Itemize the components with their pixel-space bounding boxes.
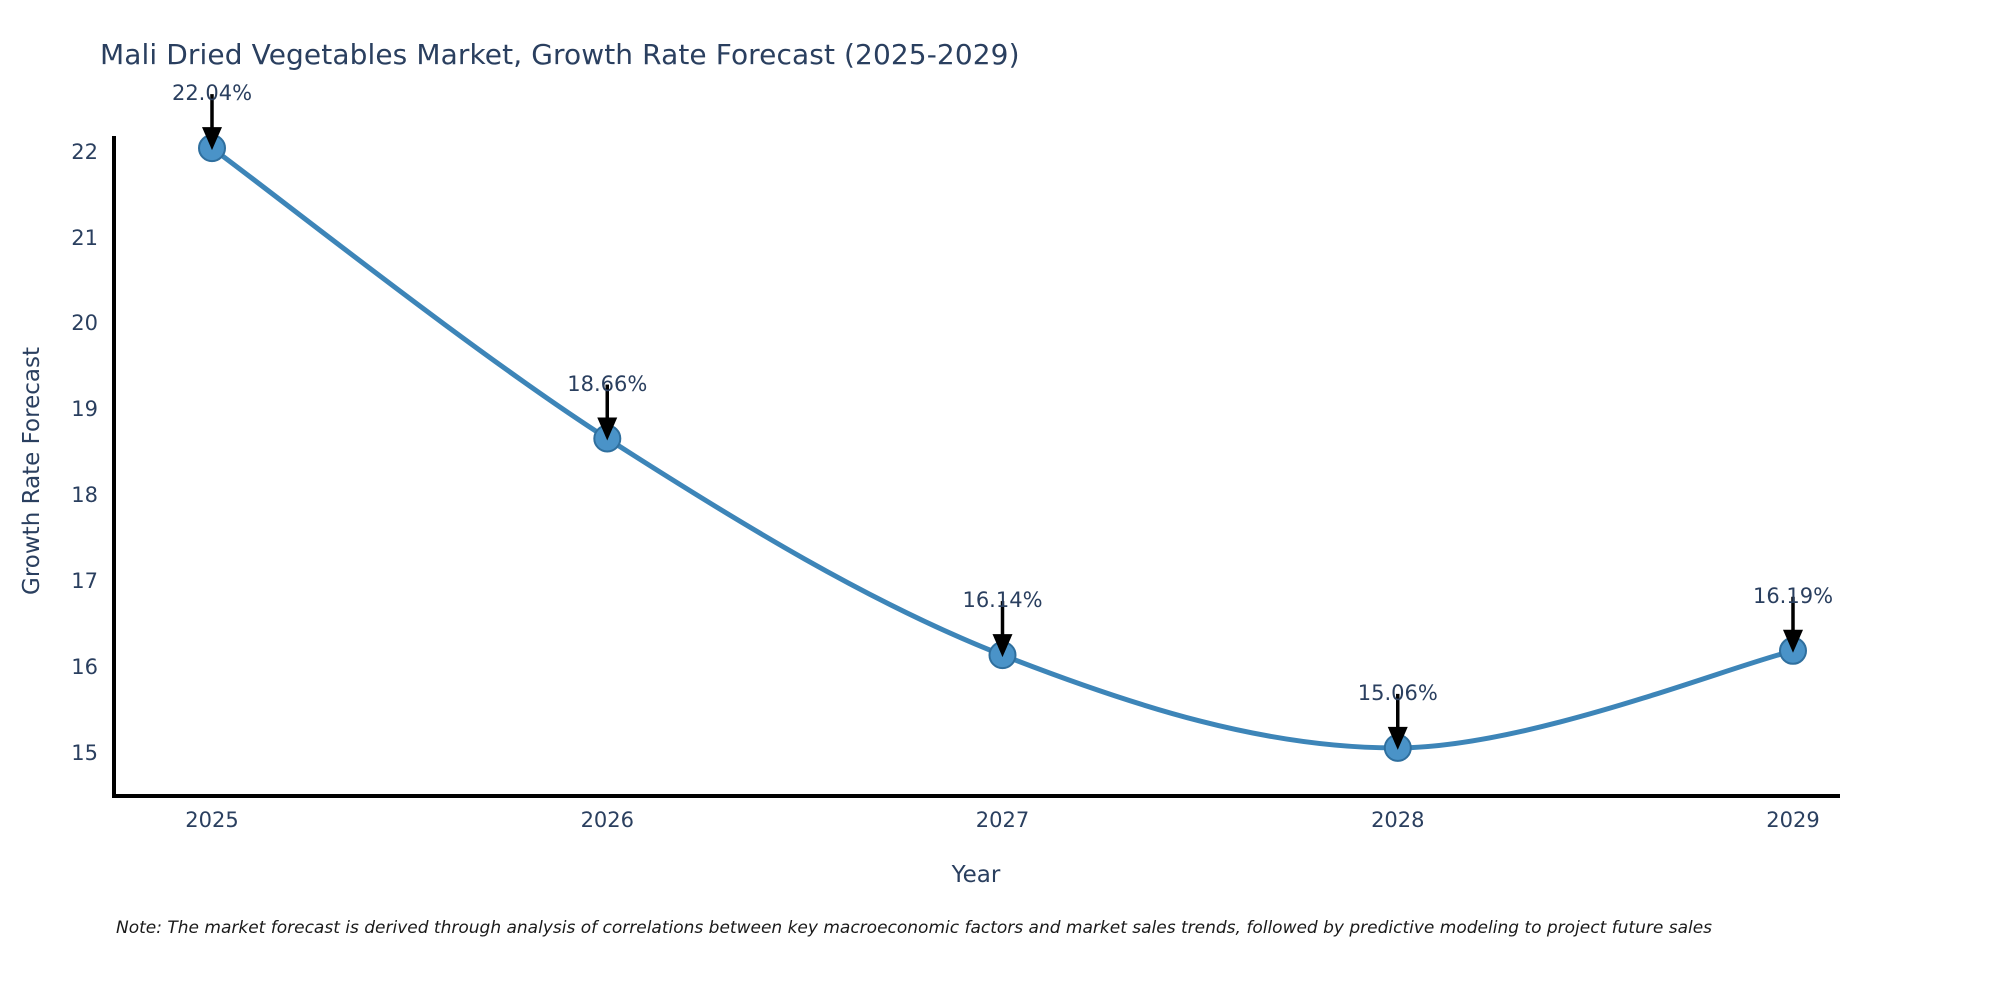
y-tick-label: 16: [71, 655, 98, 679]
x-tick-label: 2028: [1371, 808, 1424, 832]
data-point-marker: [594, 426, 620, 452]
y-tick-label: 19: [71, 397, 98, 421]
x-axis-line: [112, 794, 1840, 798]
data-point-label: 22.04%: [172, 81, 252, 105]
x-tick-label: 2025: [185, 808, 238, 832]
data-point-label: 16.19%: [1753, 584, 1833, 608]
y-tick-label: 22: [71, 140, 98, 164]
x-tick-label: 2026: [581, 808, 634, 832]
y-tick-label: 20: [71, 311, 98, 335]
data-point-marker: [990, 642, 1016, 668]
footnote-text: Note: The market forecast is derived thr…: [116, 918, 1712, 938]
data-point-label: 16.14%: [962, 588, 1042, 612]
series-line-path: [212, 148, 1793, 748]
y-tick-label: 18: [71, 483, 98, 507]
y-tick-label: 21: [71, 226, 98, 250]
x-tick-label: 2027: [976, 808, 1029, 832]
y-tick-label: 15: [71, 741, 98, 765]
y-tick-label: 17: [71, 569, 98, 593]
y-axis-tick-labels: 22 21 20 19 18 17 16 15: [0, 0, 98, 1000]
y-axis-title: Growth Rate Forecast: [19, 121, 45, 821]
data-point-marker: [199, 135, 225, 161]
plot-series-line: [0, 0, 2000, 1000]
data-point-marker: [1385, 735, 1411, 761]
x-axis-title: Year: [112, 862, 1840, 888]
data-point-marker: [1780, 638, 1806, 664]
x-tick-label: 2029: [1766, 808, 1819, 832]
chart-title: Mali Dried Vegetables Market, Growth Rat…: [100, 38, 1020, 71]
data-point-label: 18.66%: [567, 372, 647, 396]
y-axis-line: [112, 136, 116, 798]
data-point-label: 15.06%: [1358, 681, 1438, 705]
